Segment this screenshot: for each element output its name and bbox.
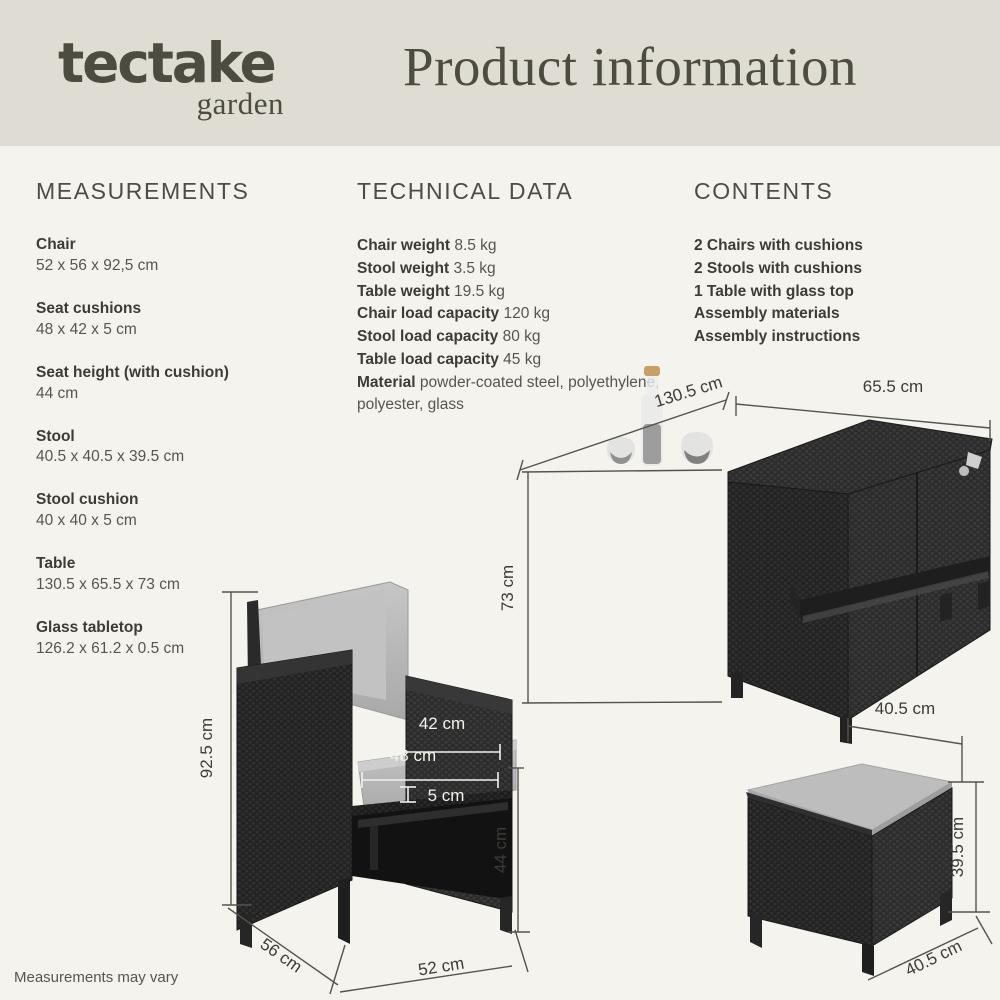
chair-width-dimension: 52 cm	[340, 930, 528, 992]
measurement-label: Seat height (with cushion)	[36, 363, 336, 384]
technical-label: Table weight	[357, 283, 450, 300]
measurement-value: 130.5 x 65.5 x 73 cm	[36, 575, 336, 596]
stool-depth-label: 40.5 cm	[902, 936, 965, 980]
technical-label: Table load capacity	[357, 351, 499, 368]
technical-item: Table weight 19.5 kg	[357, 281, 667, 304]
measurement-label: Stool cushion	[36, 490, 336, 511]
measurement-value: 52 x 56 x 92,5 cm	[36, 256, 336, 277]
technical-value: 80 kg	[503, 328, 541, 345]
contents-item: 2 Stools with cushions	[694, 258, 994, 281]
measurement-label: Table	[36, 554, 336, 575]
measurement-item: Table 130.5 x 65.5 x 73 cm	[36, 554, 336, 596]
measurements-column: MEASUREMENTS Chair 52 x 56 x 92,5 cm Sea…	[36, 178, 336, 682]
contents-item: 1 Table with glass top	[694, 281, 994, 304]
technical-value: 19.5 kg	[454, 283, 505, 300]
technical-label: Material	[357, 374, 416, 391]
contents-column: CONTENTS 2 Chairs with cushions 2 Stools…	[694, 178, 994, 349]
table-height-dimension: 73 cm	[498, 470, 722, 703]
contents-item: Assembly instructions	[694, 326, 994, 349]
header-band: tectake garden Product information	[0, 0, 1000, 146]
seat-height-label: 44 cm	[491, 827, 510, 873]
cushion-thickness-dimension: 5 cm	[400, 786, 464, 805]
contents-item: 2 Chairs with cushions	[694, 235, 994, 258]
stool-illustration: 40.5 cm 39.5 cm 40.5 cm	[746, 699, 992, 980]
technical-label: Stool weight	[357, 260, 449, 277]
technical-item: Chair load capacity 120 kg	[357, 303, 667, 326]
technical-item: Table load capacity 45 kg	[357, 349, 667, 372]
measurement-item: Seat cushions 48 x 42 x 5 cm	[36, 299, 336, 341]
footer-note: Measurements may vary	[14, 969, 178, 986]
technical-value: 45 kg	[503, 351, 541, 368]
glassware-decor	[607, 432, 713, 464]
technical-label: Chair weight	[357, 237, 450, 254]
contents-item: Assembly materials	[694, 303, 994, 326]
chair-width-label: 52 cm	[417, 954, 466, 980]
technical-label: Stool load capacity	[357, 328, 498, 345]
measurement-label: Seat cushions	[36, 299, 336, 320]
measurement-item: Stool cushion 40 x 40 x 5 cm	[36, 490, 336, 532]
stool-height-label: 39.5 cm	[948, 817, 967, 877]
page-title: Product information	[0, 34, 1000, 100]
contents-heading: CONTENTS	[694, 178, 994, 205]
measurement-value: 48 x 42 x 5 cm	[36, 320, 336, 341]
measurement-item: Seat height (with cushion) 44 cm	[36, 363, 336, 405]
chair-depth-dimension: 56 cm	[228, 908, 345, 994]
chair-height-label: 92.5 cm	[197, 718, 216, 778]
cushion-depth-dimension: 42 cm	[402, 714, 500, 760]
cushion-depth-label: 42 cm	[419, 714, 465, 733]
stool-depth-dimension: 40.5 cm	[868, 916, 992, 980]
measurement-label: Stool	[36, 427, 336, 448]
technical-value: 8.5 kg	[454, 237, 496, 254]
stool-height-dimension: 39.5 cm	[948, 782, 990, 912]
measurement-value: 40.5 x 40.5 x 39.5 cm	[36, 447, 336, 468]
measurements-heading: MEASUREMENTS	[36, 178, 336, 205]
table-depth-dimension: 65.5 cm	[736, 377, 990, 441]
table-illustration: 130.5 cm 65.5 cm 73 cm	[498, 366, 992, 744]
technical-value: 3.5 kg	[453, 260, 495, 277]
measurement-item: Stool 40.5 x 40.5 x 39.5 cm	[36, 427, 336, 469]
chair-depth-label: 56 cm	[257, 934, 306, 976]
technical-item: Material powder-coated steel, polyethyle…	[357, 372, 667, 418]
stool-width-label: 40.5 cm	[875, 699, 935, 718]
technical-item: Stool load capacity 80 kg	[357, 326, 667, 349]
measurement-label: Glass tabletop	[36, 618, 336, 639]
product-information-sheet: tectake garden Product information MEASU…	[0, 0, 1000, 1000]
measurement-value: 40 x 40 x 5 cm	[36, 511, 336, 532]
table-height-label: 73 cm	[498, 565, 517, 611]
cushion-width-label: 48 cm	[390, 746, 436, 765]
technical-value: 120 kg	[503, 305, 550, 322]
seat-height-dimension: 44 cm	[491, 768, 530, 932]
technical-data-heading: TECHNICAL DATA	[357, 178, 667, 205]
table-depth-label: 65.5 cm	[863, 377, 923, 396]
cushion-width-dimension: 48 cm	[362, 746, 498, 788]
technical-item: Chair weight 8.5 kg	[357, 235, 667, 258]
technical-data-column: TECHNICAL DATA Chair weight 8.5 kg Stool…	[357, 178, 667, 417]
cushion-thickness-label: 5 cm	[428, 786, 465, 805]
measurement-item: Chair 52 x 56 x 92,5 cm	[36, 235, 336, 277]
measurement-item: Glass tabletop 126.2 x 61.2 x 0.5 cm	[36, 618, 336, 660]
measurement-value: 44 cm	[36, 384, 336, 405]
measurement-label: Chair	[36, 235, 336, 256]
measurement-value: 126.2 x 61.2 x 0.5 cm	[36, 639, 336, 660]
stool-width-dimension: 40.5 cm	[848, 699, 962, 782]
technical-item: Stool weight 3.5 kg	[357, 258, 667, 281]
technical-label: Chair load capacity	[357, 305, 499, 322]
